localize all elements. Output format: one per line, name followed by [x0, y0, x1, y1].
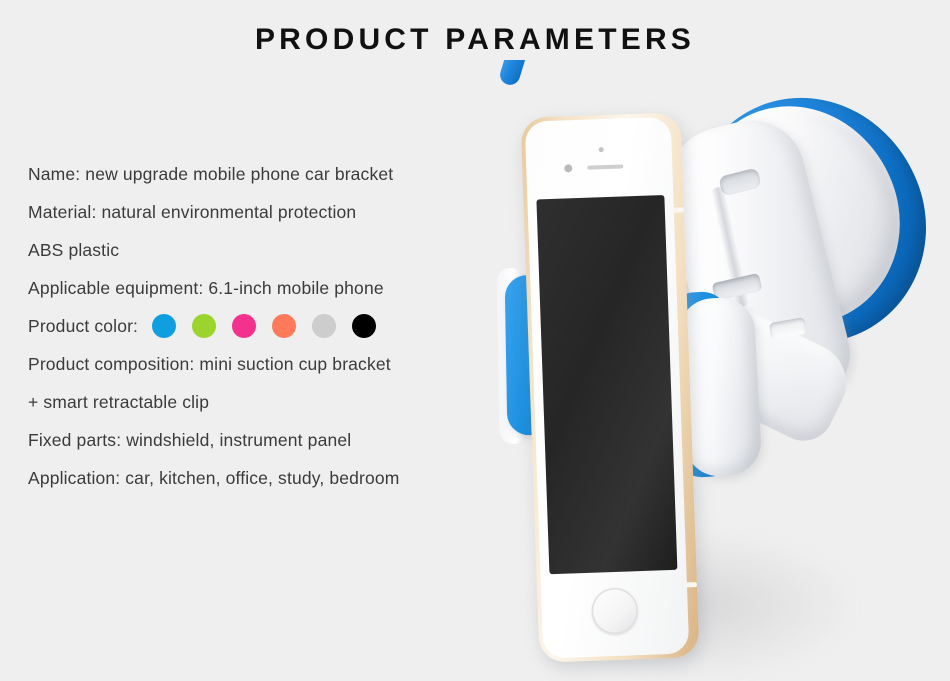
- spec-line-applicable-equipment: Applicable equipment: 6.1-inch mobile ph…: [28, 269, 498, 307]
- color-swatch-orange[interactable]: [272, 314, 296, 338]
- product-color-label: Product color:: [28, 307, 138, 345]
- page-title: PRODUCT PARAMETERS: [0, 23, 950, 57]
- specs-list: Name: new upgrade mobile phone car brack…: [28, 155, 498, 497]
- phone-proximity-sensor: [599, 147, 604, 152]
- spec-line-application: Application: car, kitchen, office, study…: [28, 459, 498, 497]
- phone-screen: [536, 195, 677, 574]
- color-swatch-green[interactable]: [192, 314, 216, 338]
- product-parameters-page: PRODUCT PARAMETERS Name: new upgrade mob…: [0, 0, 950, 681]
- spec-line-material: Material: natural environmental protecti…: [28, 193, 498, 231]
- phone-front-camera: [564, 164, 572, 172]
- phone-antenna-band-top: [673, 207, 684, 212]
- color-swatch-blue[interactable]: [152, 314, 176, 338]
- phone-home-button: [591, 587, 639, 635]
- spec-line-name: Name: new upgrade mobile phone car brack…: [28, 155, 498, 193]
- spec-line-material-cont: ABS plastic: [28, 231, 498, 269]
- product-photo: [470, 60, 950, 681]
- color-swatch-group: [152, 314, 376, 338]
- phone-antenna-band-bottom: [686, 582, 697, 587]
- phone-earpiece-speaker: [587, 164, 623, 169]
- smartphone: [521, 112, 700, 662]
- suction-cup-pull-tab: [498, 60, 539, 87]
- color-swatch-black[interactable]: [352, 314, 376, 338]
- color-swatch-gray[interactable]: [312, 314, 336, 338]
- spec-line-product-color: Product color:: [28, 307, 498, 345]
- spec-line-product-composition: Product composition: mini suction cup br…: [28, 345, 498, 383]
- spec-line-fixed-parts: Fixed parts: windshield, instrument pane…: [28, 421, 498, 459]
- phone-front-panel: [525, 117, 690, 659]
- spec-line-product-composition-cont: + smart retractable clip: [28, 383, 498, 421]
- color-swatch-pink[interactable]: [232, 314, 256, 338]
